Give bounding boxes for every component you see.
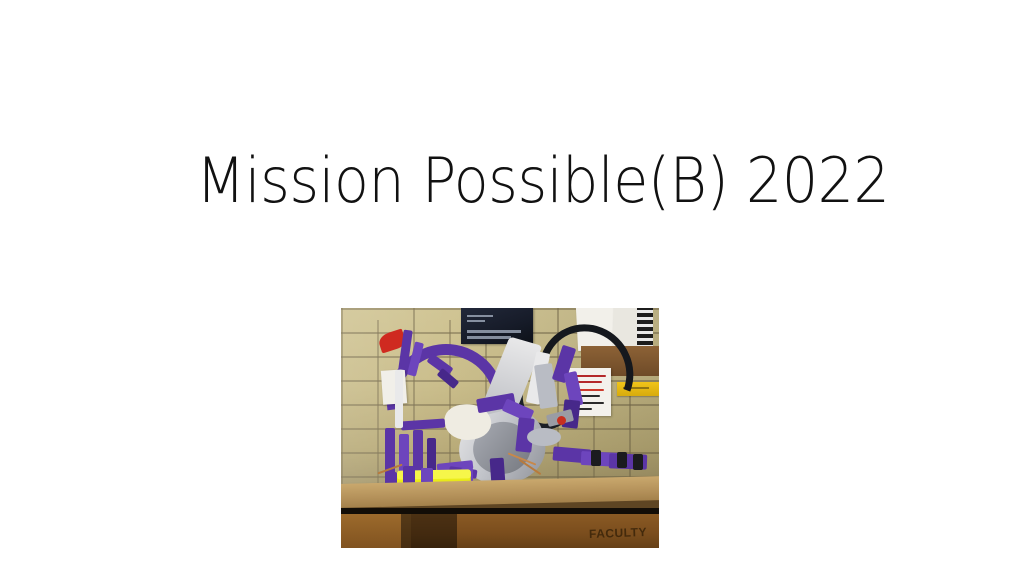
device-black-block: [617, 452, 627, 468]
device-white-rod: [395, 370, 403, 428]
filmstrip-decoration: [637, 308, 653, 346]
slide-canvas: Mission Possible(B) 2022: [0, 0, 1024, 576]
device-black-block: [633, 454, 643, 470]
device-black-block: [591, 450, 601, 466]
cardboard-box-shadow: [401, 514, 457, 548]
dark-poster: [461, 308, 533, 344]
page-title: Mission Possible(B) 2022: [196, 148, 840, 215]
device-paper-tag: [381, 369, 407, 405]
device-silver-wheel: [527, 428, 561, 446]
device-red-knob: [557, 416, 566, 425]
slide-photo: FACULTY: [341, 308, 659, 548]
cardboard-box-label: FACULTY: [589, 525, 647, 541]
